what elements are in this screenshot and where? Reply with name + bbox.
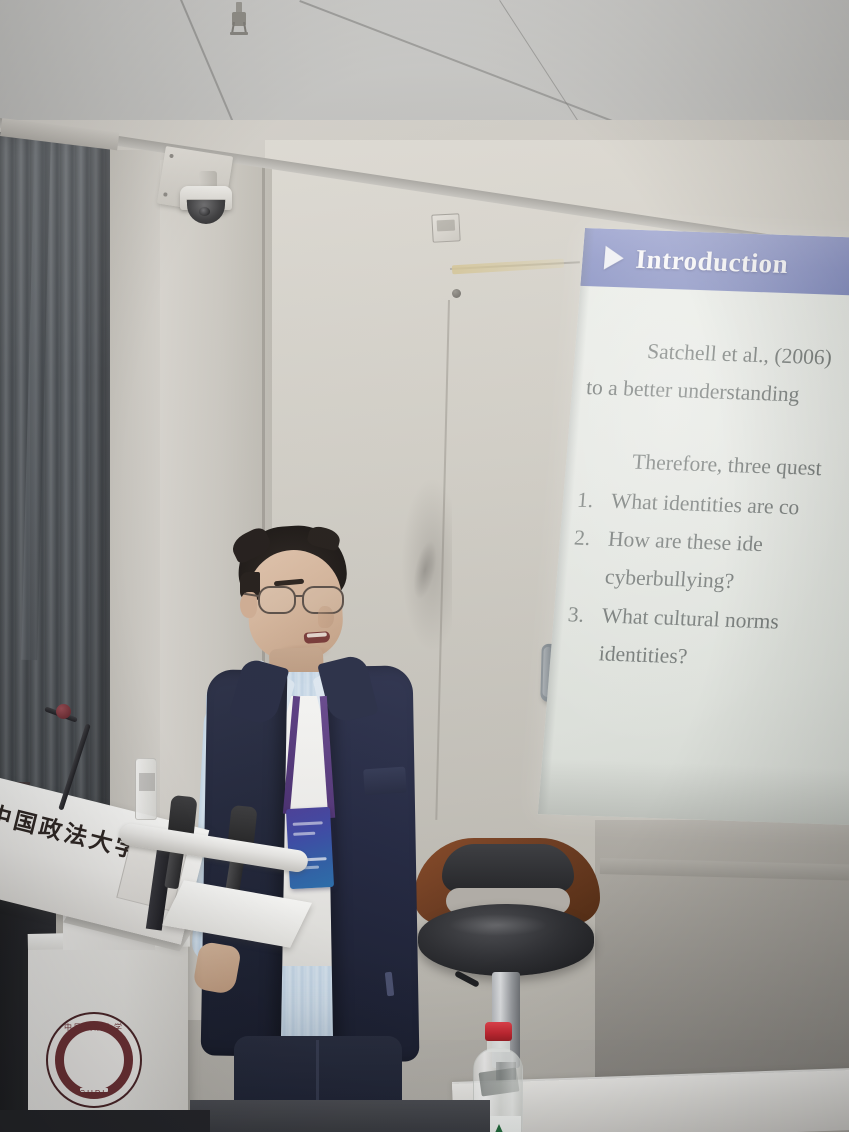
- university-seal-logo: 中国政法大学 CUPL: [46, 1012, 142, 1108]
- list-number: 2.: [573, 519, 598, 558]
- mouth: [304, 631, 331, 644]
- wall-switch-plate[interactable]: [431, 213, 460, 242]
- fire-sprinkler-icon: [228, 2, 250, 36]
- vest-pocket: [363, 767, 407, 796]
- slide-body: Satchell et al., (2006) to a better unde…: [549, 286, 849, 692]
- slide-question-list: 1. What identities are co 2. How are the…: [563, 480, 849, 681]
- stool-back-cushion: [442, 844, 574, 892]
- bottle-neck: [487, 1040, 510, 1052]
- presentation-room-photo: Introduction Satchell et al., (2006) to …: [0, 0, 849, 1132]
- floor-dark-area: [0, 1110, 210, 1132]
- list-number: 1.: [576, 480, 601, 519]
- presenter-person: [178, 520, 428, 1132]
- seal-bottom-text: CUPL: [48, 1089, 140, 1098]
- projected-slide: Introduction Satchell et al., (2006) to …: [538, 228, 849, 826]
- conference-badge: [286, 807, 334, 889]
- wall-screw-icon: [452, 289, 461, 298]
- floor: [190, 1100, 490, 1132]
- camera-lens-icon: [199, 207, 210, 216]
- tree-logo-icon: [490, 1124, 508, 1132]
- stool-seat-highlight: [448, 914, 548, 936]
- play-triangle-icon: [604, 246, 625, 271]
- nose: [318, 606, 334, 628]
- slide-title: Introduction: [634, 243, 789, 279]
- eyeglasses-icon: [258, 586, 350, 616]
- seal-top-text: 中国政法大学: [48, 1022, 140, 1033]
- list-number: 3.: [566, 595, 591, 634]
- bottle-cap-red[interactable]: [485, 1022, 512, 1041]
- puffer-vest-right: [327, 665, 420, 1062]
- small-bottle: [135, 758, 157, 820]
- gooseneck-microphone[interactable]: [30, 700, 90, 798]
- scales-of-justice-icon: [66, 1036, 122, 1092]
